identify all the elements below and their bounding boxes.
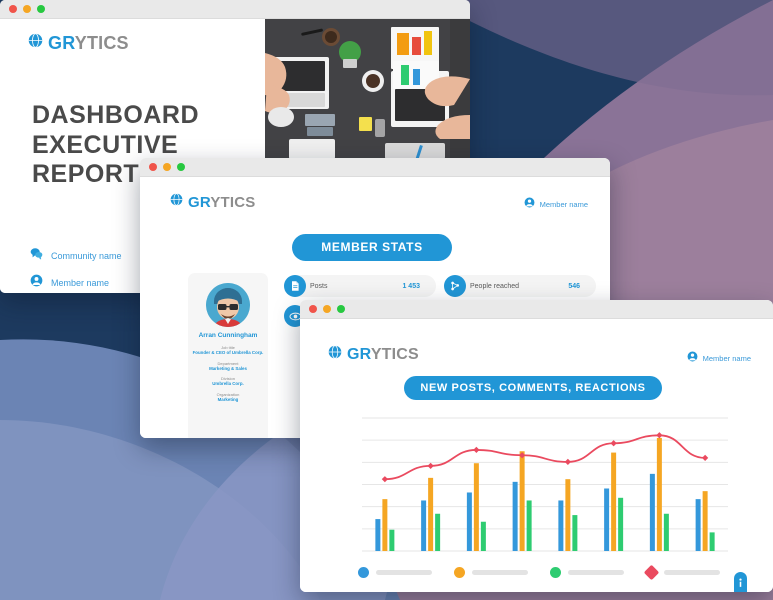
logo-text-blue: GR — [347, 346, 371, 363]
grytics-logo: GRYTICS — [28, 33, 129, 53]
stat-row-people-reached[interactable]: People reached 546 — [444, 275, 596, 297]
stat-value: 1 453 — [402, 283, 436, 290]
page-title-line-1: DASHBOARD — [32, 101, 199, 131]
profile-name: Arran Cunningham — [199, 332, 258, 340]
section-title-member-stats: MEMBER STATS — [292, 234, 452, 261]
close-dot[interactable] — [149, 163, 157, 171]
chart-window-body: GRYTICS Member name NEW POSTS, COMMENTS,… — [300, 319, 773, 592]
profile-field-value: Founder & CEO of Umbrella Corp. — [193, 350, 264, 356]
profile-field-division: Division Umbrella Corp. — [212, 376, 243, 387]
legend-item-reactions[interactable] — [550, 567, 624, 578]
profile-card: Arran Cunningham Job title Founder & CEO… — [188, 273, 268, 438]
minimize-dot[interactable] — [323, 305, 331, 313]
legend-marker-reactions — [550, 567, 561, 578]
person-circle-icon — [30, 274, 43, 292]
logo-wordmark: GRYTICS — [347, 347, 419, 363]
bar-line-chart — [352, 414, 734, 559]
page-title-line-2: EXECUTIVE — [32, 131, 199, 161]
header-member-label: Member name — [703, 354, 751, 363]
titlebar[interactable] — [0, 0, 470, 19]
minimize-dot[interactable] — [23, 5, 31, 13]
logo-text-gray: YTICS — [210, 194, 255, 211]
stat-label: People reached — [470, 283, 568, 290]
legend-marker-trend — [644, 565, 660, 581]
document-icon — [284, 275, 306, 297]
chart-window[interactable]: GRYTICS Member name NEW POSTS, COMMENTS,… — [300, 300, 773, 592]
logo-text-blue: GR — [48, 33, 75, 53]
globe-icon — [170, 193, 183, 211]
logo-wordmark: GRYTICS — [188, 195, 256, 210]
person-circle-icon — [524, 195, 535, 213]
header-member-chip[interactable]: Member name — [524, 195, 588, 213]
profile-field-job-title: Job title Founder & CEO of Umbrella Corp… — [193, 345, 264, 356]
legend-item-trend[interactable] — [646, 567, 720, 578]
header-member-chip[interactable]: Member name — [687, 349, 751, 367]
logo-text-gray: YTICS — [371, 346, 419, 363]
member-name-label: Member name — [51, 278, 109, 288]
profile-field-value: Marketing — [217, 397, 240, 403]
legend-label-trend — [664, 570, 720, 575]
chart-canvas — [352, 414, 734, 559]
section-title-new-posts-comments-reactions: NEW POSTS, COMMENTS, REACTIONS — [404, 376, 662, 400]
maximize-dot[interactable] — [37, 5, 45, 13]
header-member-label: Member name — [540, 200, 588, 209]
stat-value: 546 — [568, 283, 596, 290]
logo-wordmark: GRYTICS — [48, 34, 129, 52]
chart-legend — [358, 567, 720, 578]
legend-label-comments — [472, 570, 528, 575]
profile-field-department: Department Marketing & Sales — [209, 361, 247, 372]
member-name-row: Member name — [30, 274, 122, 292]
legend-item-posts[interactable] — [358, 567, 432, 578]
titlebar[interactable] — [140, 158, 610, 177]
grytics-logo: GRYTICS — [328, 345, 419, 364]
titlebar[interactable] — [300, 300, 773, 319]
legend-marker-posts — [358, 567, 369, 578]
globe-icon — [28, 33, 43, 53]
network-icon — [444, 275, 466, 297]
legend-label-reactions — [568, 570, 624, 575]
profile-field-value: Marketing & Sales — [209, 366, 247, 372]
close-dot[interactable] — [309, 305, 317, 313]
avatar — [206, 283, 250, 327]
logo-text-gray: YTICS — [75, 33, 129, 53]
maximize-dot[interactable] — [337, 305, 345, 313]
profile-field-value: Umbrella Corp. — [212, 381, 243, 387]
profile-field-organization: Organization Marketing — [217, 392, 240, 403]
maximize-dot[interactable] — [177, 163, 185, 171]
stat-label: Posts — [310, 283, 402, 290]
community-name-label: Community name — [51, 251, 122, 261]
info-tab-icon[interactable] — [734, 572, 747, 592]
minimize-dot[interactable] — [163, 163, 171, 171]
desk-photo — [265, 19, 470, 159]
cover-meta-list: Community name Member name — [30, 247, 122, 292]
legend-item-comments[interactable] — [454, 567, 528, 578]
profile-field-key: Organization — [217, 392, 240, 397]
chat-bubbles-icon — [30, 247, 43, 265]
logo-text-blue: GR — [188, 194, 210, 211]
legend-marker-comments — [454, 567, 465, 578]
globe-icon — [328, 345, 342, 364]
legend-label-posts — [376, 570, 432, 575]
close-dot[interactable] — [9, 5, 17, 13]
community-name-row: Community name — [30, 247, 122, 265]
grytics-logo: GRYTICS — [170, 193, 256, 211]
stat-row-posts[interactable]: Posts 1 453 — [284, 275, 436, 297]
person-circle-icon — [687, 349, 698, 367]
